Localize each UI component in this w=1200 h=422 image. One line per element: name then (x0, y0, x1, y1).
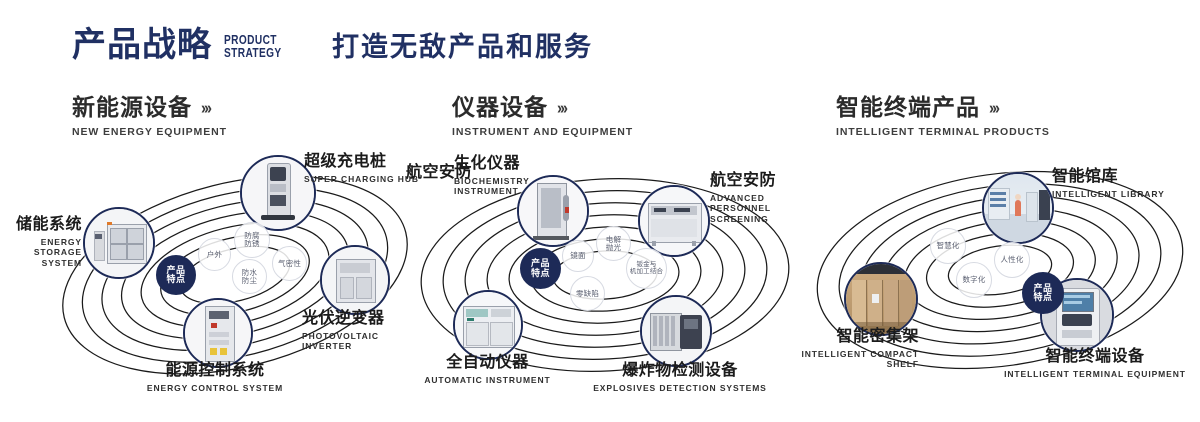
bubble-mirror-finish: 镜面 (562, 240, 594, 272)
photo-explosives-detection-systems (642, 297, 710, 365)
section-cn: 智能终端产品 ››› (836, 96, 1050, 119)
caption-cn: 爆炸物检测设备 (580, 362, 780, 380)
chevrons-icon: ››› (201, 100, 210, 117)
section-title-instrument: 仪器设备 ››› INSTRUMENT AND EQUIPMENT (452, 96, 633, 138)
node-advanced-personnel-screening[interactable] (638, 185, 710, 257)
diagram-group-intelligent-terminal: 智能馆库 INTELLIGENT LIBRARY 智能密集架 INTELLIGE… (800, 150, 1200, 400)
caption-en: ENERGY CONTROL SYSTEM (90, 383, 340, 394)
caption-explosives-detection-systems: 爆炸物检测设备 EXPLOSIVES DETECTION SYSTEMS (580, 362, 780, 393)
bubble-product-features: 产品 特点 (156, 255, 196, 295)
caption-biochemistry-instrument: 生化仪器 BIOCHEMISTRY INSTRUMENT (454, 155, 574, 197)
caption-en: EXPLOSIVES DETECTION SYSTEMS (580, 383, 780, 394)
diagram-group-instrument: 航空安防 生化仪器 BIOCHEMISTRY INSTRUMENT (410, 150, 810, 400)
node-energy-control-system[interactable] (183, 298, 253, 368)
bubble-sheetmetal-machining: 钣金与 机加工结合 (626, 248, 667, 289)
section-label: 仪器设备 (452, 96, 548, 119)
caption-energy-storage-system: 储能系统 ENERGY STORAGE SYSTEM (12, 216, 82, 268)
node-automatic-instrument[interactable] (453, 290, 523, 360)
caption-cn: 智能密集架 (764, 328, 919, 346)
node-intelligent-compact-shelf[interactable] (844, 262, 918, 336)
section-title-new-energy: 新能源设备 ››› NEW ENERGY EQUIPMENT (72, 96, 227, 138)
bubble-zero-defect: 零缺陷 (570, 276, 605, 311)
page-title: 产品战略 PRODUCT STRATEGY (72, 28, 298, 62)
section-label: 智能终端产品 (836, 96, 980, 119)
caption-intelligent-terminal-equipment: 智能终端设备 INTELLIGENT TERMINAL EQUIPMENT (990, 348, 1200, 379)
caption-en: INTELLIGENT TERMINAL EQUIPMENT (990, 369, 1200, 380)
bubble-waterproof-dustproof: 防水 防尘 (232, 259, 267, 294)
caption-automatic-instrument: 全自动仪器 AUTOMATIC INSTRUMENT (405, 354, 570, 385)
node-explosives-detection-systems[interactable] (640, 295, 712, 367)
caption-intelligent-compact-shelf: 智能密集架 INTELLIGENT COMPACT SHELF (764, 328, 919, 370)
photo-advanced-personnel-screening (640, 187, 708, 255)
section-title-intelligent-terminal: 智能终端产品 ››› INTELLIGENT TERMINAL PRODUCTS (836, 96, 1050, 138)
bubble-product-features: 产品 特点 (1022, 272, 1064, 314)
caption-en: ENERGY STORAGE SYSTEM (12, 237, 82, 269)
photo-intelligent-library (984, 174, 1052, 242)
caption-cn: 智能终端设备 (990, 348, 1200, 366)
section-en: INTELLIGENT TERMINAL PRODUCTS (836, 126, 1050, 138)
chevrons-icon: ››› (557, 100, 566, 117)
caption-en: INTELLIGENT LIBRARY (1052, 189, 1192, 200)
caption-cn: 智能馆库 (1052, 168, 1192, 186)
title-en: PRODUCT STRATEGY (224, 33, 282, 63)
bubble-humanized: 人性化 (994, 242, 1030, 278)
photo-automatic-instrument (455, 292, 521, 358)
infographic-canvas: 产品战略 PRODUCT STRATEGY 打造无敌产品和服务 新能源设备 ››… (0, 0, 1200, 422)
bubble-airtightness: 气密性 (272, 246, 307, 281)
bubble-smart: 智慧化 (930, 228, 966, 264)
section-label: 新能源设备 (72, 96, 192, 119)
node-energy-storage-system[interactable] (83, 207, 155, 279)
caption-intelligent-library: 智能馆库 INTELLIGENT LIBRARY (1052, 168, 1192, 199)
caption-cn: 生化仪器 (454, 155, 574, 173)
bubble-anticorrosion: 防腐 防锈 (234, 222, 270, 258)
bubble-product-features: 产品 特点 (520, 248, 561, 289)
section-cn: 仪器设备 ››› (452, 96, 633, 119)
bubble-digital: 数字化 (956, 262, 992, 298)
diagram-group-new-energy: 储能系统 ENERGY STORAGE SYSTEM 超级充电桩 SUPER C… (40, 150, 430, 400)
section-en: NEW ENERGY EQUIPMENT (72, 126, 227, 138)
section-en: INSTRUMENT AND EQUIPMENT (452, 126, 633, 138)
section-cn: 新能源设备 ››› (72, 96, 227, 119)
photo-energy-storage-system (85, 209, 153, 277)
caption-en: AUTOMATIC INSTRUMENT (405, 375, 570, 386)
photo-intelligent-compact-shelf (846, 264, 916, 334)
caption-en: INTELLIGENT COMPACT SHELF (764, 349, 919, 370)
bubble-outdoor: 户外 (198, 238, 231, 271)
node-photovoltaic-inverter[interactable] (320, 245, 390, 315)
caption-energy-control-system: 能源控制系统 ENERGY CONTROL SYSTEM (90, 362, 340, 393)
caption-en: BIOCHEMISTRY INSTRUMENT (454, 176, 574, 197)
chevrons-icon: ››› (989, 100, 998, 117)
photo-energy-control-system (185, 300, 251, 366)
bubble-electrolytic-polishing: 电解 抛光 (596, 226, 631, 261)
page-subtitle: 打造无敌产品和服务 (332, 34, 593, 61)
caption-cn: 全自动仪器 (405, 354, 570, 372)
title-cn: 产品战略 (72, 28, 212, 62)
node-intelligent-library[interactable] (982, 172, 1054, 244)
photo-photovoltaic-inverter (322, 247, 388, 313)
caption-cn: 储能系统 (12, 216, 82, 234)
caption-cn: 能源控制系统 (90, 362, 340, 380)
